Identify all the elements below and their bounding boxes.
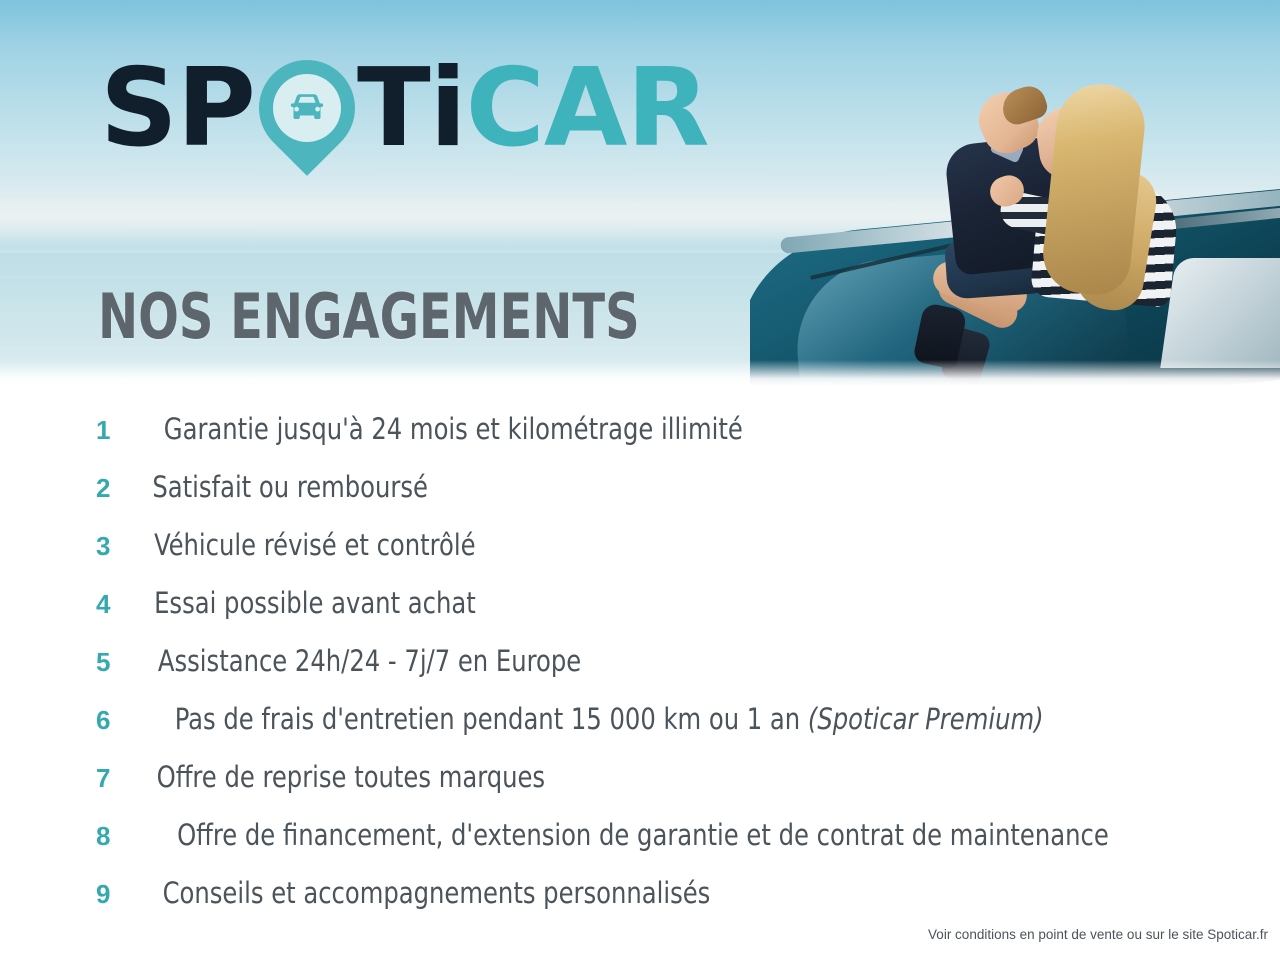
map-pin-car-icon xyxy=(251,50,359,168)
logo-text-sp: SP xyxy=(100,50,255,168)
commitment-text-main: Satisfait ou remboursé xyxy=(152,470,428,504)
page-title: NOS ENGAGEMENTS xyxy=(98,282,640,352)
car-pillar-shape xyxy=(1160,258,1280,368)
commitment-text-main: Offre de financement, d'extension de gar… xyxy=(177,818,1109,852)
commitment-text: Véhicule révisé et contrôlé xyxy=(154,528,475,562)
commitment-text: Assistance 24h/24 - 7j/7 en Europe xyxy=(158,644,581,678)
commitment-text: Essai possible avant achat xyxy=(154,586,476,620)
commitment-number: 1 xyxy=(96,413,142,447)
commitment-text: Satisfait ou remboursé xyxy=(152,470,428,504)
hero-banner: SP Ti CAR NOS ENGAGEMENTS xyxy=(0,0,1280,386)
commitment-text: Pas de frais d'entretien pendant 15 000 … xyxy=(175,702,1044,736)
commitment-number: 8 xyxy=(96,819,142,853)
hero-photo xyxy=(750,0,1280,386)
commitment-number: 4 xyxy=(96,587,142,621)
commitment-number: 5 xyxy=(96,645,142,679)
commitment-text: Garantie jusqu'à 24 mois et kilométrage … xyxy=(164,412,743,446)
commitment-text-main: Conseils et accompagnements personnalisé… xyxy=(163,876,711,910)
commitment-number: 3 xyxy=(96,529,142,563)
disclaimer-text: Voir conditions en point de vente ou sur… xyxy=(668,926,1268,944)
commitment-text: Conseils et accompagnements personnalisé… xyxy=(163,876,711,910)
commitment-text-main: Assistance 24h/24 - 7j/7 en Europe xyxy=(158,644,581,678)
logo-text-ti: Ti xyxy=(357,50,466,168)
spoticar-logo: SP Ti CAR xyxy=(100,50,709,180)
car-glyph-icon xyxy=(287,92,327,124)
commitments-list: 1Garantie jusqu'à 24 mois et kilométrage… xyxy=(96,412,1266,934)
commitment-row: 5Assistance 24h/24 - 7j/7 en Europe xyxy=(96,644,1266,702)
commitment-row: 2Satisfait ou remboursé xyxy=(96,470,1266,528)
logo-text-car: CAR xyxy=(466,50,709,168)
commitment-text-main: Véhicule révisé et contrôlé xyxy=(154,528,475,562)
commitment-row: 4Essai possible avant achat xyxy=(96,586,1266,644)
commitment-text-main: Pas de frais d'entretien pendant 15 000 … xyxy=(175,702,808,736)
commitment-text: Offre de reprise toutes marques xyxy=(157,760,545,794)
commitment-row: 7Offre de reprise toutes marques xyxy=(96,760,1266,818)
commitment-text-main: Essai possible avant achat xyxy=(154,586,476,620)
spoticar-engagements-poster: SP Ti CAR NOS ENGAGEMENTS 1Garantie jusq… xyxy=(0,0,1280,960)
commitment-text-emphasis: (Spoticar Premium) xyxy=(808,702,1044,736)
commitment-number: 9 xyxy=(96,877,142,911)
commitment-row: 8Offre de financement, d'extension de ga… xyxy=(96,818,1266,876)
commitment-text-main: Offre de reprise toutes marques xyxy=(157,760,545,794)
commitment-row: 1Garantie jusqu'à 24 mois et kilométrage… xyxy=(96,412,1266,470)
commitment-row: 6Pas de frais d'entretien pendant 15 000… xyxy=(96,702,1266,760)
commitment-text: Offre de financement, d'extension de gar… xyxy=(177,818,1109,852)
commitment-number: 7 xyxy=(96,761,142,795)
commitment-row: 3Véhicule révisé et contrôlé xyxy=(96,528,1266,586)
commitment-number: 2 xyxy=(96,471,142,505)
commitment-text-main: Garantie jusqu'à 24 mois et kilométrage … xyxy=(164,412,743,446)
commitment-number: 6 xyxy=(96,703,142,737)
